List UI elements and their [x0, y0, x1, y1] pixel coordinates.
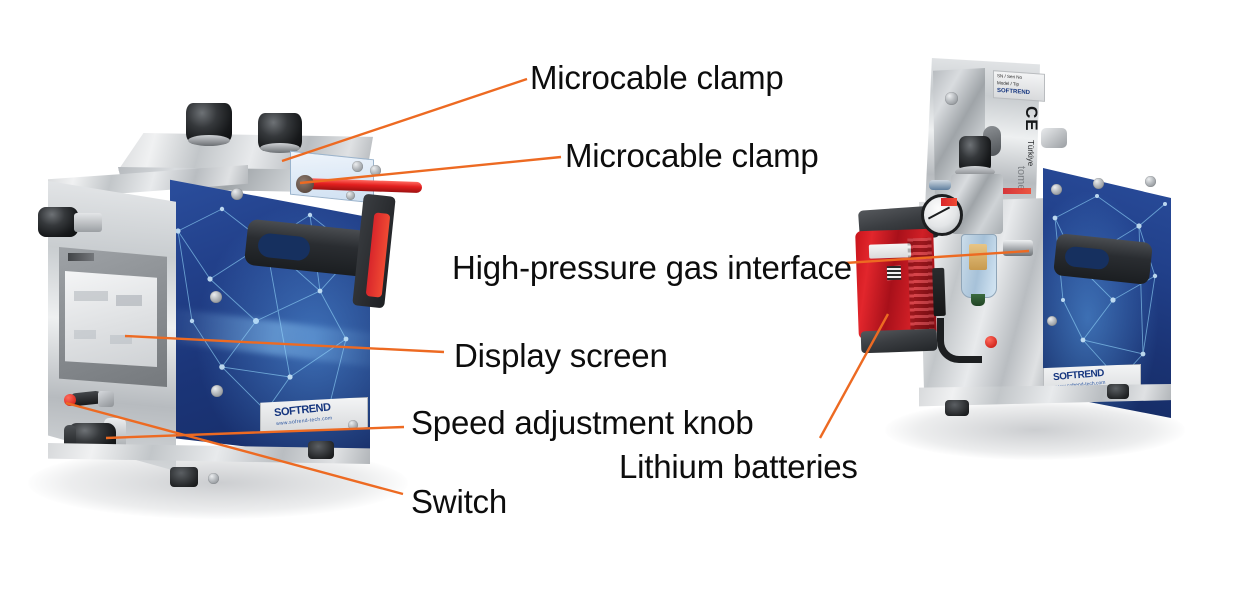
annotation-label-speed-adjustment-knob: Speed adjustment knob	[411, 405, 754, 441]
annotation-label-display-screen: Display screen	[454, 338, 668, 374]
leader-line-microcable-clamp-top	[282, 79, 527, 161]
annotation-label-microcable-clamp-front: Microcable clamp	[565, 138, 819, 174]
leader-line-speed-adjustment-knob	[106, 427, 404, 438]
leader-line-lithium-batteries	[820, 314, 888, 438]
annotation-label-lithium-batteries: Lithium batteries	[619, 449, 858, 485]
annotation-label-microcable-clamp-top: Microcable clamp	[530, 60, 784, 96]
figure-canvas: SOFTREND www.sofrend-tech.com SN / Seri …	[0, 0, 1244, 598]
leader-line-switch	[66, 403, 403, 494]
annotation-label-switch: Switch	[411, 484, 507, 520]
leader-line-microcable-clamp-front	[300, 157, 561, 183]
annotation-label-high-pressure-gas-interface: High-pressure gas interface	[452, 250, 852, 286]
leader-line-display-screen	[125, 336, 444, 352]
leader-line-high-pressure-gas-interface	[845, 251, 1029, 263]
